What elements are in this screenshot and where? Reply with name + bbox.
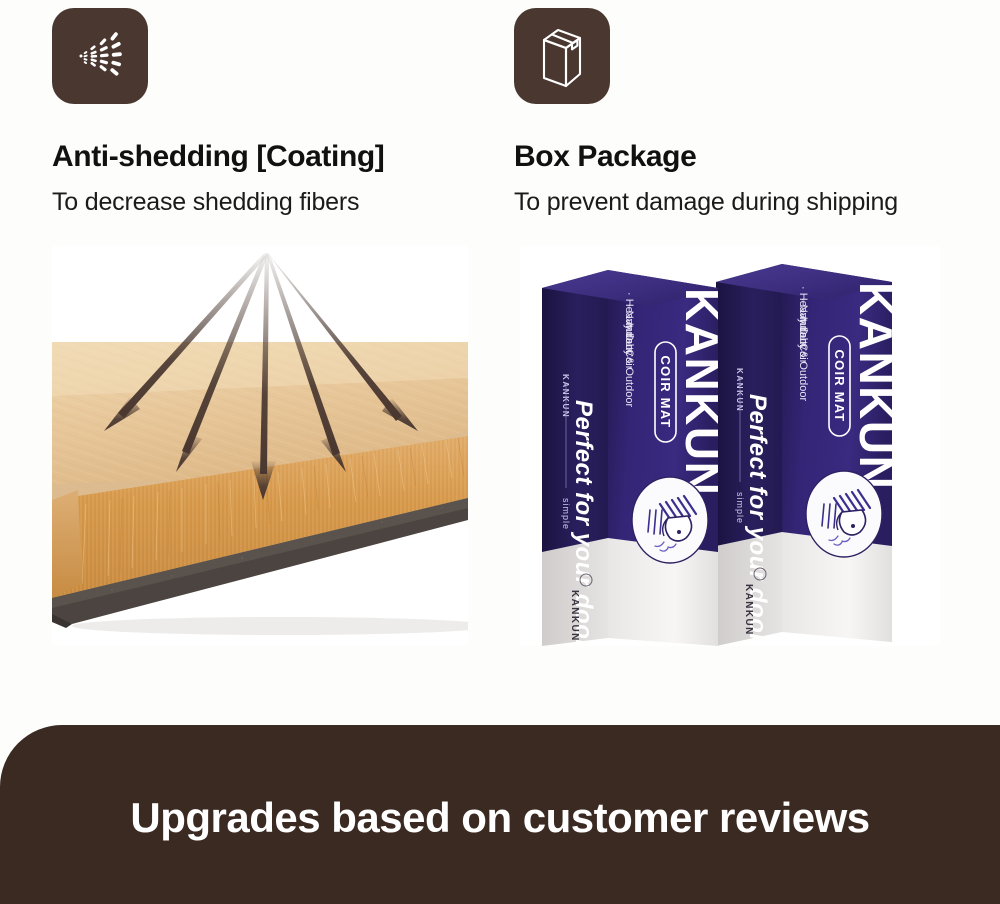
svg-text:KANKUN: KANKUN	[743, 584, 754, 636]
svg-text:simple: simple	[561, 498, 571, 530]
box-package-icon	[532, 24, 592, 88]
product-box-1: KANKUN · Heavy Duty · Natural Coir · Ind…	[542, 270, 728, 646]
svg-text:KANKUN: KANKUN	[850, 282, 902, 490]
svg-text:KANKUN: KANKUN	[676, 288, 728, 496]
product-box-2: KANKUN · Heavy Duty · Natural Coir · Ind…	[716, 264, 902, 646]
svg-text:simple: simple	[735, 492, 745, 524]
spray-mist-icon	[68, 24, 132, 88]
svg-text:COIR MAT: COIR MAT	[658, 356, 673, 429]
upgrades-banner: Upgrades based on customer reviews	[0, 725, 1000, 904]
coir-mat-photo	[52, 246, 468, 646]
feature-subtitle-anti-shedding: To decrease shedding fibers	[52, 188, 522, 217]
svg-text:· Indoor & Outdoor: · Indoor & Outdoor	[623, 316, 635, 407]
svg-text:KANKUN: KANKUN	[561, 374, 570, 418]
svg-text:· Indoor & Outdoor: · Indoor & Outdoor	[797, 310, 809, 401]
svg-text:COIR MAT: COIR MAT	[832, 350, 847, 423]
anti-shedding-icon-tile	[52, 8, 148, 104]
kankun-box-photo: KANKUN · Heavy Duty · Natural Coir · Ind…	[520, 246, 940, 646]
svg-text:KANKUN: KANKUN	[735, 368, 744, 412]
feature-title-anti-shedding: Anti-shedding [Coating]	[52, 140, 522, 174]
feature-title-box-package: Box Package	[514, 140, 984, 174]
feature-block-box-package: Box Package To prevent damage during shi…	[514, 8, 984, 217]
feature-subtitle-box-package: To prevent damage during shipping	[514, 188, 984, 217]
product-feature-panel: Anti-shedding [Coating] To decrease shed…	[0, 0, 1000, 904]
box-package-icon-tile	[514, 8, 610, 104]
svg-text:KANKUN: KANKUN	[569, 590, 580, 642]
feature-block-anti-shedding: Anti-shedding [Coating] To decrease shed…	[52, 8, 522, 217]
upgrades-banner-text: Upgrades based on customer reviews	[130, 794, 869, 842]
